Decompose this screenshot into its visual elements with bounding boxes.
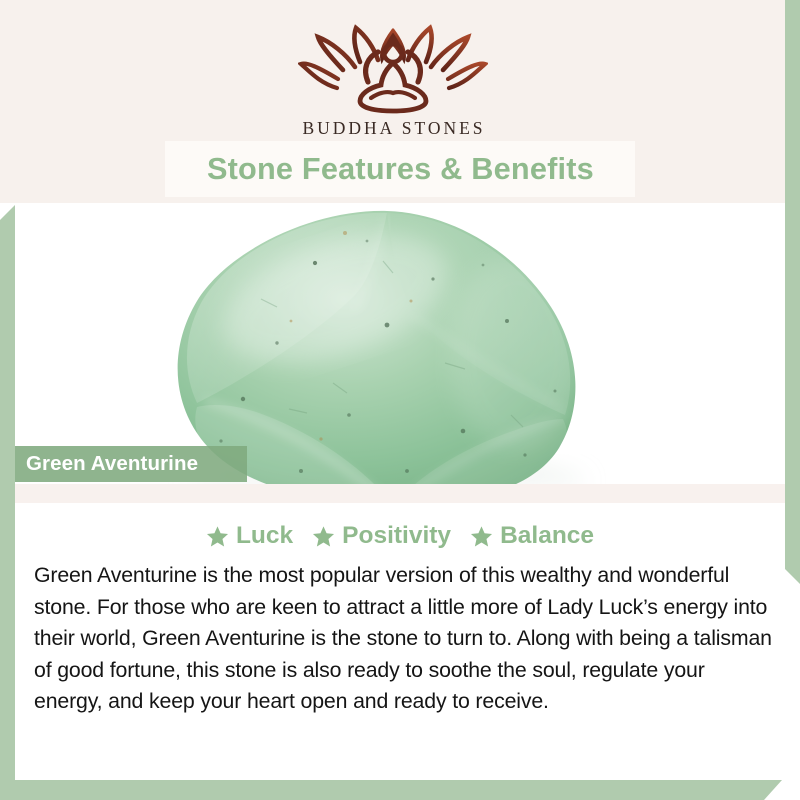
stone-description: Green Aventurine is the most popular ver… [34, 560, 778, 718]
brand-name: BUDDHA STONES [299, 118, 485, 139]
page-title: Stone Features & Benefits [207, 151, 594, 187]
divider-strip [15, 484, 785, 503]
frame-decor-right [785, 0, 800, 584]
benefit-label: Positivity [342, 522, 451, 550]
frame-decor-left [0, 205, 15, 795]
benefits-row: Luck Positivity Balance [15, 518, 785, 554]
lotus-meditation-figure-icon [298, 22, 488, 114]
benefit-item: Balance [470, 522, 594, 550]
star-icon [312, 525, 335, 548]
benefit-label: Luck [236, 522, 293, 550]
brand-logo: BUDDHA STONES [0, 22, 785, 139]
stone-name-banner: Green Aventurine [15, 446, 247, 482]
benefit-item: Positivity [312, 522, 451, 550]
stone-name: Green Aventurine [15, 452, 198, 476]
benefit-label: Balance [500, 522, 594, 550]
benefit-item: Luck [206, 522, 293, 550]
stone-benefits-infographic: BUDDHA STONES Stone Features & Benefits [0, 0, 800, 800]
star-icon [206, 525, 229, 548]
frame-decor-bottom [0, 780, 782, 800]
title-banner: Stone Features & Benefits [165, 141, 635, 197]
star-icon [470, 525, 493, 548]
